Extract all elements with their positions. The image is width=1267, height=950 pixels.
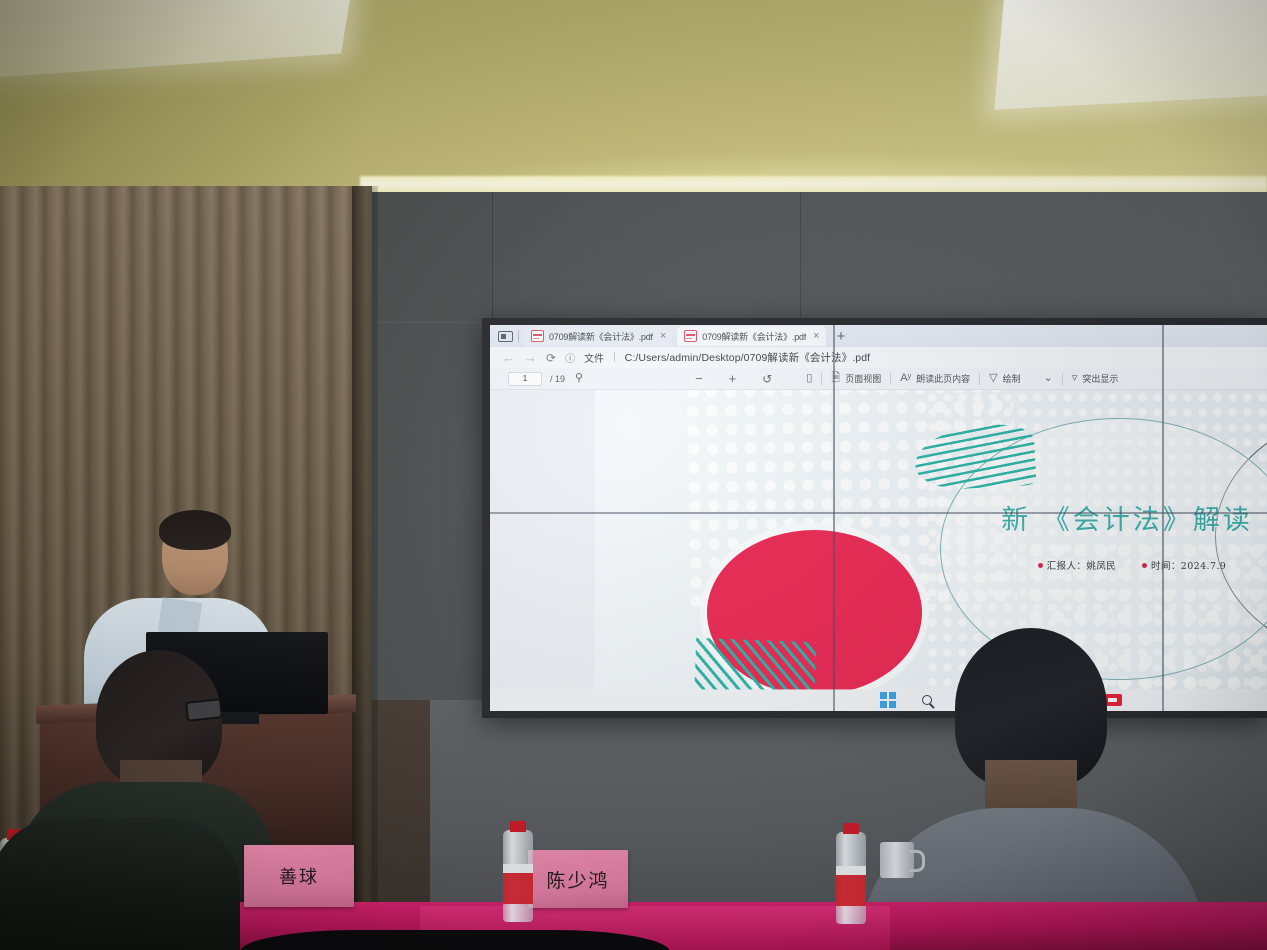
wall-seam <box>492 192 493 322</box>
chair-back <box>240 930 670 950</box>
search-icon[interactable] <box>922 695 932 705</box>
name-card-center-text: 陈少鸿 <box>546 866 609 893</box>
edge-browser-window[interactable]: 0709解读新《会计法》.pdf × 0709解读新《会计法》.pdf × + … <box>490 325 1267 711</box>
browser-address-bar[interactable]: ← → ⟳ ⓘ 文件 | C:/Users/admin/Desktop/0709… <box>490 347 1267 368</box>
divider <box>890 373 891 385</box>
scheme-label: 文件 <box>584 350 604 365</box>
divider <box>518 330 519 342</box>
foreground-person <box>0 818 240 950</box>
bullet-icon <box>1038 563 1043 568</box>
videowall-bezel-seam <box>490 512 1267 514</box>
presenter-collar <box>158 597 202 636</box>
search-icon[interactable]: ⚲ <box>575 373 583 384</box>
videowall-bezel-seam <box>833 325 835 711</box>
page-view-button[interactable]: 🗎 页面视图 <box>831 372 881 385</box>
read-aloud-label: 朗读此页内容 <box>916 372 970 385</box>
videowall-display[interactable]: 0709解读新《会计法》.pdf × 0709解读新《会计法》.pdf × + … <box>490 325 1267 711</box>
slide-presenter: 汇报人：姚凤民 <box>1038 558 1116 572</box>
pdf-viewer-stage[interactable]: 新 《会计法》解读 汇报人：姚凤民 时间：2024.7.9 <box>490 390 1267 711</box>
divider: | <box>613 352 616 363</box>
pen-icon: ▽ <box>989 373 997 384</box>
highlighter-icon: ▿ <box>1072 373 1078 384</box>
pdf-page-1[interactable]: 新 《会计法》解读 汇报人：姚凤民 时间：2024.7.9 <box>595 390 1267 690</box>
site-info-icon[interactable]: ⓘ <box>565 350 575 365</box>
browser-tab-2[interactable]: 0709解读新《会计法》.pdf × <box>677 326 825 346</box>
reload-icon[interactable]: ⟳ <box>546 351 556 365</box>
windows-start-icon[interactable] <box>880 692 896 708</box>
highlight-label: 突出显示 <box>1082 372 1118 385</box>
divider <box>979 373 980 385</box>
page-number-input[interactable]: 1 <box>508 372 542 386</box>
presenter-hair <box>159 510 231 550</box>
pdf-file-icon <box>531 330 544 342</box>
bottle-label <box>503 864 533 904</box>
pdf-toolbar[interactable]: 1 / 19 ⚲ − + ↺ ▯ 🗎 页面视图 Aʸ 朗读此页内容 <box>490 368 1267 390</box>
browser-tab-2-title: 0709解读新《会计法》.pdf <box>702 330 806 343</box>
zoom-out-button[interactable]: − <box>695 372 703 385</box>
water-bottle <box>503 830 533 922</box>
slide-date: 时间：2024.7.9 <box>1142 558 1226 572</box>
divider <box>821 373 822 385</box>
tab-group-icon[interactable] <box>498 331 513 342</box>
bottle-cap <box>843 823 859 834</box>
back-icon[interactable]: ← <box>502 351 515 364</box>
bottle-label <box>836 866 866 906</box>
browser-tabstrip[interactable]: 0709解读新《会计法》.pdf × 0709解读新《会计法》.pdf × + <box>490 325 1267 347</box>
bullet-icon <box>1142 563 1147 568</box>
draw-label: 绘制 <box>1003 372 1021 385</box>
name-card-center: 陈少鸿 <box>528 850 628 908</box>
forward-icon[interactable]: → <box>524 351 537 364</box>
wall-seam <box>800 192 801 322</box>
page-view-label: 页面视图 <box>845 372 881 385</box>
pdf-file-icon <box>684 330 697 342</box>
divider <box>1062 373 1063 385</box>
chevron-down-icon[interactable]: ⌄ <box>1044 373 1053 384</box>
fit-page-icon[interactable]: ▯ <box>806 373 812 384</box>
water-bottle <box>836 832 866 924</box>
name-card-left: 善球 <box>244 845 354 907</box>
curtain-edge <box>352 186 378 950</box>
slide-subtitle: 汇报人：姚凤民 时间：2024.7.9 <box>967 558 1267 572</box>
rotate-button[interactable]: ↺ <box>762 373 772 385</box>
tab-close-icon[interactable]: × <box>658 331 666 342</box>
eyeglasses <box>185 698 223 722</box>
draw-button[interactable]: ▽ 绘制 ⌄ <box>989 372 1053 385</box>
windows-taskbar[interactable] <box>490 689 1267 711</box>
browser-tab-1-title: 0709解读新《会计法》.pdf <box>549 330 653 343</box>
decorative-teal-stripes <box>694 638 816 690</box>
browser-tab-1[interactable]: 0709解读新《会计法》.pdf × <box>524 326 672 346</box>
tab-close-icon[interactable]: × <box>811 331 819 342</box>
videowall-bezel-seam <box>1162 325 1164 711</box>
read-aloud-button[interactable]: Aʸ 朗读此页内容 <box>900 372 970 385</box>
conference-room-photo: 0709解读新《会计法》.pdf × 0709解读新《会计法》.pdf × + … <box>0 0 1267 950</box>
name-card-left-text: 善球 <box>279 863 319 889</box>
read-aloud-icon: Aʸ <box>900 373 911 384</box>
slide-title: 新 《会计法》解读 <box>967 498 1267 537</box>
page-total-label: / 19 <box>550 374 565 384</box>
highlight-button[interactable]: ▿ 突出显示 <box>1072 372 1119 385</box>
bottle-cap <box>510 821 526 832</box>
pdf-app-icon[interactable] <box>1105 694 1122 706</box>
slide-presenter-label: 汇报人：姚凤民 <box>1047 558 1116 572</box>
zoom-in-button[interactable]: + <box>729 372 737 385</box>
mug <box>880 842 914 878</box>
